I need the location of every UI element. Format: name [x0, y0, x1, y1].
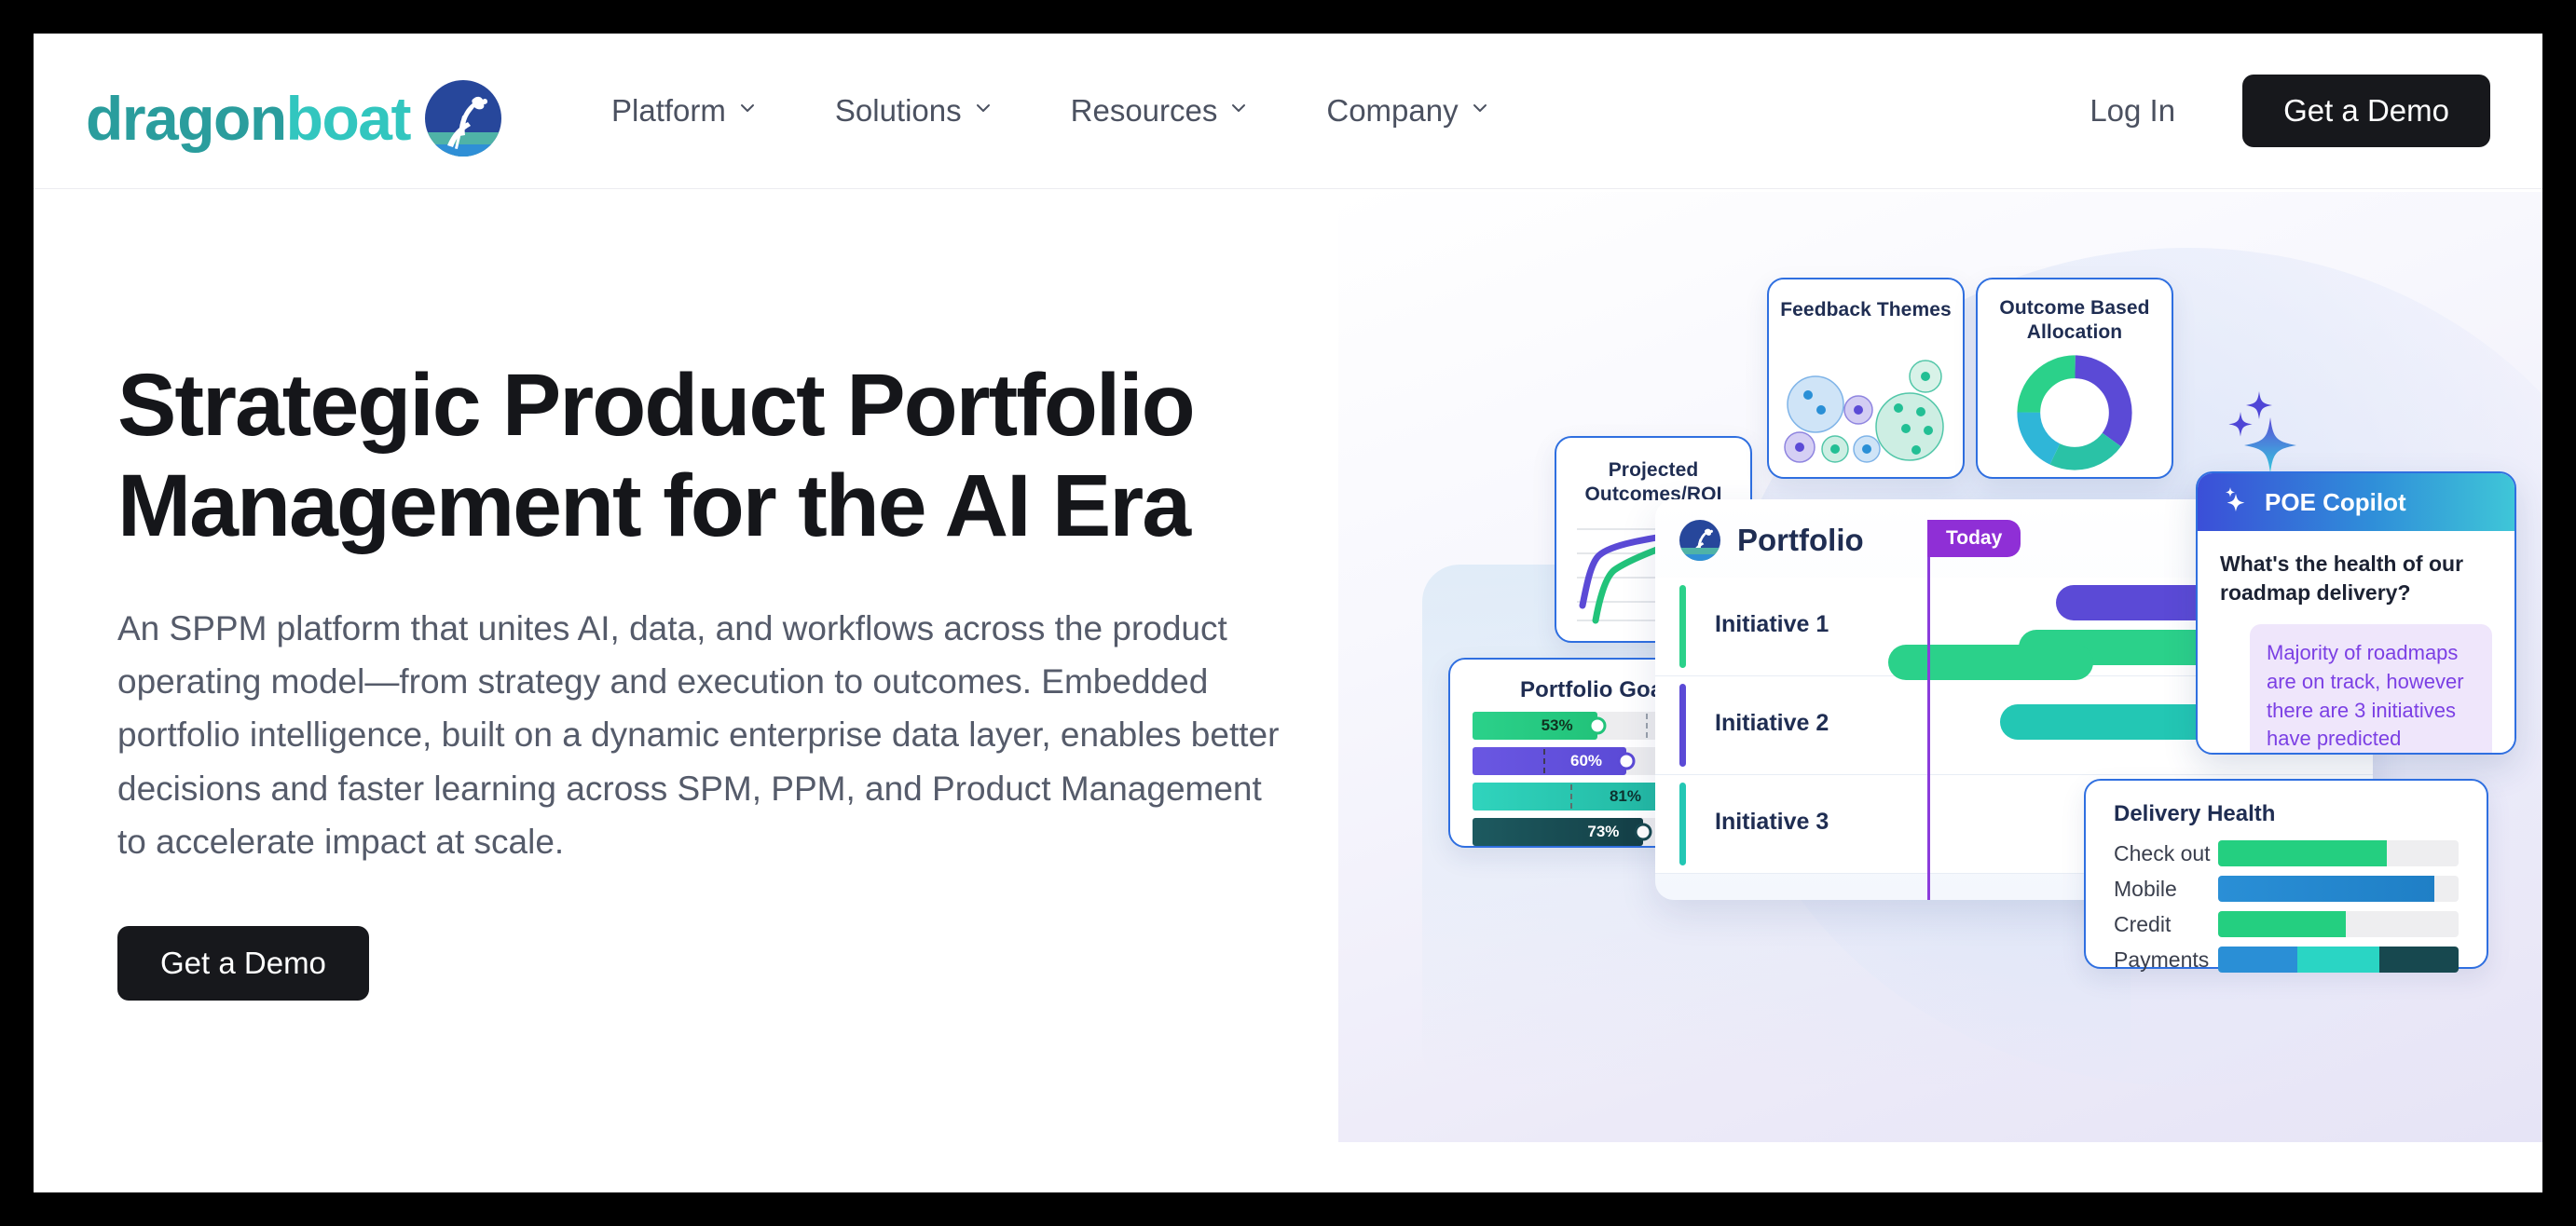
logo-text-dragon: dragon [86, 88, 286, 149]
copilot-answer: Majority of roadmaps are on track, howev… [2250, 624, 2492, 755]
login-link[interactable]: Log In [2090, 93, 2242, 129]
header-actions: Log In Get a Demo [2090, 34, 2490, 188]
portfolio-title: Portfolio [1737, 523, 1864, 558]
delivery-fill [2218, 840, 2387, 866]
nav-item-label: Solutions [835, 93, 962, 129]
goal-target-marker [1646, 714, 1648, 738]
delivery-track [2218, 840, 2459, 866]
chevron-down-icon [1229, 99, 1248, 117]
delivery-label: Mobile [2114, 877, 2218, 902]
card-title: Delivery Health [2086, 781, 2487, 827]
nav-item-label: Resources [1071, 93, 1218, 129]
copilot-title: POE Copilot [2265, 488, 2406, 517]
nav-item-company[interactable]: Company [1287, 93, 1528, 129]
nav-item-platform[interactable]: Platform [572, 93, 796, 129]
header-get-demo-button[interactable]: Get a Demo [2242, 75, 2490, 147]
delivery-label: Check out [2114, 841, 2218, 866]
list-item: Credit [2114, 911, 2459, 937]
hero-subtext: An SPPM platform that unites AI, data, a… [117, 602, 1296, 869]
delivery-track [2218, 876, 2459, 902]
delivery-health-rows: Check out Mobile Credit [2086, 827, 2487, 973]
gantt-bar[interactable] [1888, 645, 2093, 680]
copilot-question: What's the health of our roadmap deliver… [2220, 550, 2492, 607]
copilot-body: What's the health of our roadmap deliver… [2198, 531, 2514, 755]
hero-content: Strategic Product Portfolio Management f… [117, 355, 1320, 1001]
row-accent [1679, 783, 1686, 865]
delivery-track [2218, 911, 2459, 937]
list-item: Mobile [2114, 876, 2459, 902]
goal-knob [1588, 717, 1606, 735]
hero-illustration: Projected Outcomes/ROI Feedback Themes [1338, 192, 2542, 1142]
delivery-fill [2218, 911, 2346, 937]
delivery-fill [2218, 876, 2434, 902]
dragonboat-mark-icon [1679, 520, 1720, 561]
allocation-donut-chart [2014, 352, 2135, 478]
card-title: Feedback Themes [1769, 298, 1963, 322]
delivery-label: Credit [2114, 912, 2218, 937]
delivery-track [2218, 947, 2459, 973]
today-badge: Today [1927, 520, 2021, 557]
initiative-label: Initiative 2 [1715, 710, 1829, 737]
page-title: Strategic Product Portfolio Management f… [117, 355, 1320, 557]
main-nav: Platform Solutions Resources Company [572, 34, 1528, 188]
row-accent [1679, 684, 1686, 767]
initiative-label: Initiative 1 [1715, 611, 1829, 638]
sparkle-icon [2218, 484, 2250, 521]
card-title: Outcome Based Allocation [1978, 296, 2172, 346]
list-item: Check out [2114, 840, 2459, 866]
logo-text-boat: boat [286, 88, 410, 149]
goal-target-marker [1570, 784, 1572, 809]
nav-item-solutions[interactable]: Solutions [796, 93, 1032, 129]
chevron-down-icon [974, 99, 993, 117]
delivery-label: Payments [2114, 947, 2218, 973]
delivery-fill [2379, 947, 2459, 973]
list-item: Payments [2114, 947, 2459, 973]
card-delivery-health[interactable]: Delivery Health Check out Mobile Credit [2084, 779, 2488, 969]
goal-knob [1635, 824, 1652, 841]
nav-item-resources[interactable]: Resources [1032, 93, 1288, 129]
nav-item-label: Company [1326, 93, 1458, 129]
goal-knob [1618, 753, 1636, 770]
delivery-fill [2297, 947, 2379, 973]
card-outcome-allocation[interactable]: Outcome Based Allocation [1976, 278, 2173, 479]
copilot-header: POE Copilot [2198, 473, 2514, 531]
row-accent [1679, 585, 1686, 668]
page-root: dragonboat Platform Solutions R [34, 34, 2542, 1192]
dragonboat-mark-icon [425, 80, 501, 157]
card-feedback-themes[interactable]: Feedback Themes [1767, 278, 1965, 479]
logo[interactable]: dragonboat [86, 80, 501, 157]
nav-item-label: Platform [611, 93, 726, 129]
initiative-label: Initiative 3 [1715, 809, 1829, 836]
hero-get-demo-button[interactable]: Get a Demo [117, 926, 369, 1001]
site-header: dragonboat Platform Solutions R [34, 34, 2542, 189]
card-poe-copilot[interactable]: POE Copilot What's the health of our roa… [2196, 471, 2516, 755]
feedback-bubble-chart [1776, 352, 1955, 470]
today-marker-line [1927, 520, 1930, 900]
chevron-down-icon [1471, 99, 1489, 117]
delivery-fill [2218, 947, 2297, 973]
logo-text: dragonboat [86, 88, 410, 149]
chevron-down-icon [738, 99, 757, 117]
goal-target-marker [1543, 749, 1545, 773]
